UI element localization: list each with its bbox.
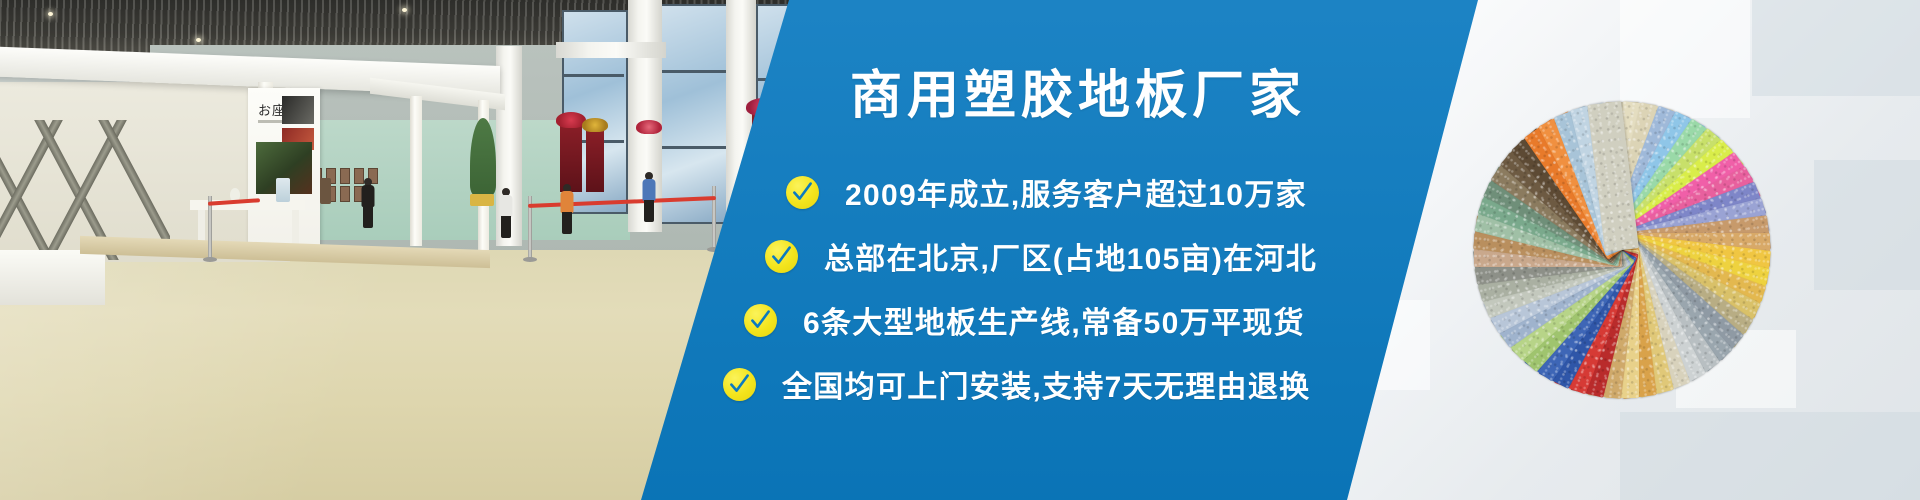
feature-item: 6条大型地板生产线,常备50万平现货 [744,298,1305,342]
feature-item: 总部在北京,厂区(占地105亩)在河北 [765,234,1317,278]
check-circle-icon [765,240,798,273]
promo-banner: お座 [0,0,1920,500]
check-circle-icon [786,176,819,209]
feature-item: 全国均可上门安装,支持7天无理由退换 [723,362,1310,406]
feature-text: 2009年成立,服务客户超过10万家 [845,170,1307,214]
check-circle-icon [723,368,756,401]
feature-text: 总部在北京,厂区(占地105亩)在河北 [824,234,1317,278]
feature-text: 6条大型地板生产线,常备50万平现货 [803,298,1305,342]
check-circle-icon [744,304,777,337]
feature-text: 全国均可上门安装,支持7天无理由退换 [782,362,1310,406]
page-title: 商用塑胶地板厂家 [850,68,1306,124]
feature-item: 2009年成立,服务客户超过10万家 [786,170,1307,214]
